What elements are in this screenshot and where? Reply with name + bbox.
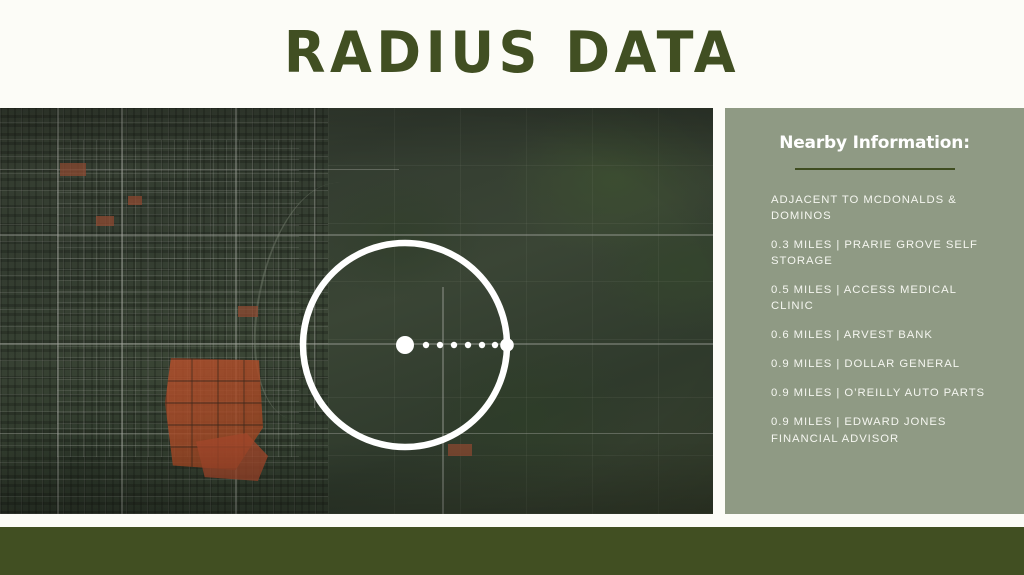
list-item: 0.5 MILES | ACCESS MEDICAL CLINIC: [771, 282, 988, 314]
list-item: 0.9 MILES | DOLLAR GENERAL: [771, 356, 988, 372]
nearby-information-list: ADJACENT TO MCDONALDS & DOMINOS 0.3 MILE…: [747, 192, 1002, 446]
nearby-information-heading: Nearby Information:: [747, 134, 1002, 153]
map-vignette: [0, 108, 713, 514]
heading-divider: [795, 168, 955, 171]
aerial-map[interactable]: [0, 108, 713, 514]
list-item: 0.9 MILES | EDWARD JONES FINANCIAL ADVIS…: [771, 414, 988, 446]
page-title-container: RADIUS DATA: [0, 0, 1024, 106]
list-item: 0.3 MILES | PRARIE GROVE SELF STORAGE: [771, 237, 988, 269]
nearby-information-panel: Nearby Information: ADJACENT TO MCDONALD…: [725, 108, 1024, 514]
list-item: 0.6 MILES | ARVEST BANK: [771, 327, 988, 343]
footer-bar: [0, 527, 1024, 575]
list-item: 0.9 MILES | O’REILLY AUTO PARTS: [771, 385, 988, 401]
page-title: RADIUS DATA: [284, 24, 740, 81]
slide-root: RADIUS DATA: [0, 0, 1024, 575]
list-item: ADJACENT TO MCDONALDS & DOMINOS: [771, 192, 988, 224]
